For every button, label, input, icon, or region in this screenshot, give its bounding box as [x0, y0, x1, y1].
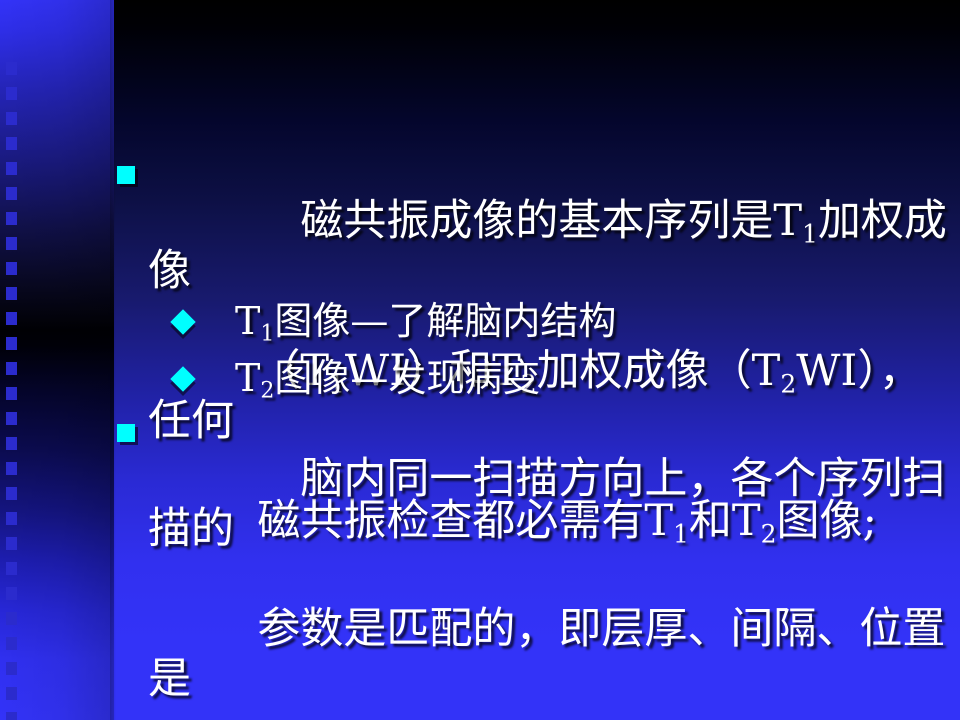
left-decorative-band — [0, 0, 114, 720]
decorative-chip — [6, 312, 17, 325]
decorative-chip — [6, 437, 17, 450]
bullet-1-line-1: 磁共振成像的基本序列是T1加权成像 — [148, 196, 947, 296]
decorative-chip — [6, 87, 17, 100]
decorative-chip — [6, 612, 17, 625]
decorative-chip — [6, 562, 17, 575]
subscript-1: 1 — [260, 322, 274, 347]
decorative-chip — [6, 162, 17, 175]
subscript-2: 2 — [780, 369, 796, 398]
decorative-chip — [6, 337, 17, 350]
decorative-chip — [6, 287, 17, 300]
decorative-chip — [6, 212, 17, 225]
decorative-chip — [6, 362, 17, 375]
bullet-3-text: T2图像—发现病变 — [235, 355, 540, 401]
slide-content: 磁共振成像的基本序列是T1加权成像 （T1WI）和T2加权成像（T2WI），任何… — [112, 0, 960, 720]
decorative-chip — [6, 262, 17, 275]
subscript-2: 2 — [260, 379, 274, 404]
presentation-slide: 磁共振成像的基本序列是T1加权成像 （T1WI）和T2加权成像（T2WI），任何… — [0, 0, 960, 720]
decorative-chip — [6, 187, 17, 200]
decorative-chip — [6, 412, 17, 425]
bullet-4-line-2: 参数是匹配的，即层厚、间隔、位置是 — [148, 604, 945, 704]
square-bullet-icon — [117, 424, 135, 442]
decorative-chip — [6, 137, 17, 150]
decorative-chip — [6, 387, 17, 400]
bullet-4-text: 脑内同一扫描方向上，各个序列扫描的 参数是匹配的，即层厚、间隔、位置是 相同的，… — [148, 404, 960, 720]
decorative-chip — [6, 237, 17, 250]
decorative-chip-column — [6, 0, 18, 720]
square-bullet-icon — [117, 166, 135, 184]
subscript-1: 1 — [802, 219, 818, 248]
decorative-chip — [6, 487, 17, 500]
decorative-chip — [6, 687, 17, 700]
decorative-chip — [6, 712, 17, 720]
bullet-2-text: T1图像—了解脑内结构 — [235, 298, 616, 344]
decorative-chip — [6, 637, 17, 650]
decorative-chip — [6, 112, 17, 125]
decorative-chip — [6, 587, 17, 600]
decorative-chip — [6, 537, 17, 550]
decorative-chip — [6, 462, 17, 475]
decorative-chip — [6, 62, 17, 75]
bullet-4-line-1: 脑内同一扫描方向上，各个序列扫描的 — [148, 454, 945, 554]
decorative-chip — [6, 662, 17, 675]
decorative-chip — [6, 512, 17, 525]
